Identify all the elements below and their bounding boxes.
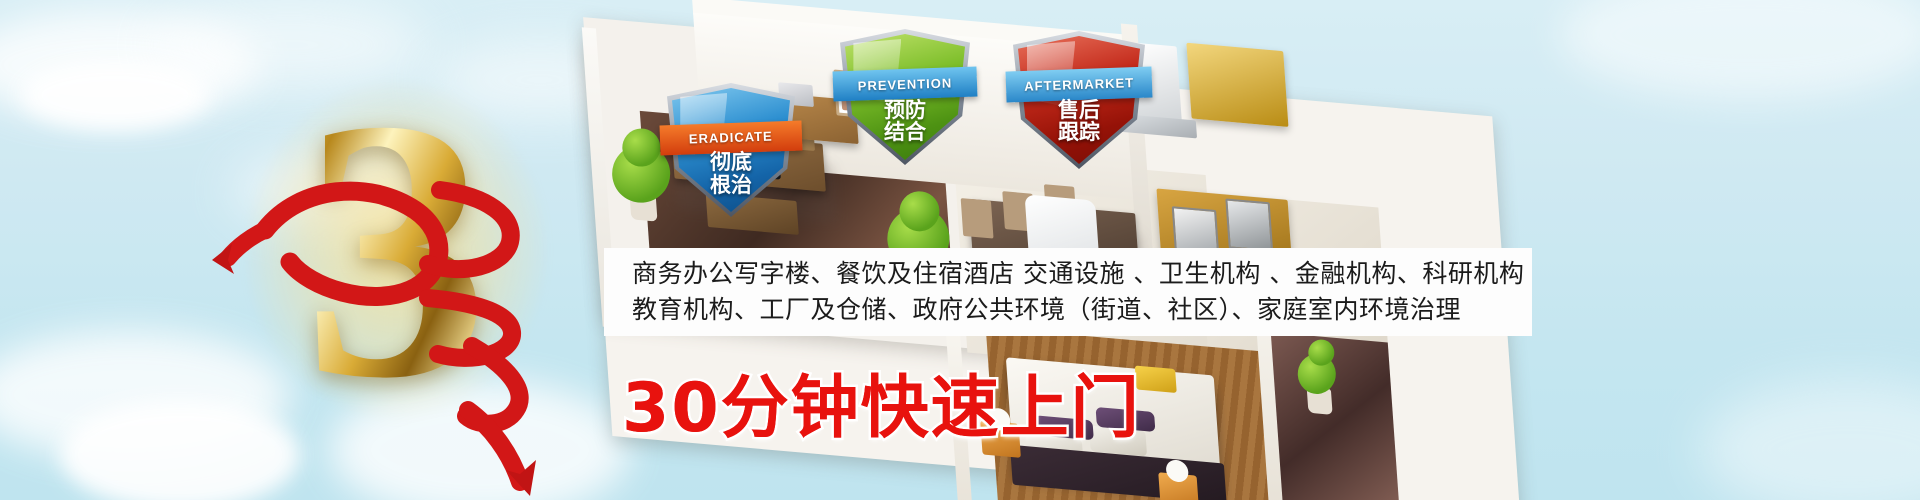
shield-chinese-line1: 预防 <box>884 99 926 122</box>
shield-chinese-line2: 跟踪 <box>1058 121 1100 144</box>
service-scope-panel: 商务办公写字楼、餐饮及住宿酒店 交通设施 、卫生机构 、金融机构、科研机构 教育… <box>604 248 1532 336</box>
service-scope-line-1: 商务办公写字楼、餐饮及住宿酒店 交通设施 、卫生机构 、金融机构、科研机构 <box>632 256 1504 292</box>
shield-badge-prevention[interactable]: PREVENTION 预防 结合 <box>845 34 965 160</box>
shield-ribbon-label: AFTERMARKET <box>1005 67 1152 103</box>
shield-badge-aftermarket[interactable]: AFTERMARKET 售后 跟踪 <box>1018 36 1140 164</box>
shield-ribbon-label: ERADICATE <box>660 120 803 155</box>
shield-chinese-line1: 售后 <box>1058 99 1100 122</box>
shield-badge-eradicate[interactable]: ERADICATE 彻底 根治 <box>672 88 790 212</box>
promo-banner: 3 ERADICATE 彻底 根治 PREVENTION 预防 结合 <box>0 0 1920 500</box>
shield-chinese-line1: 彻底 <box>710 151 752 174</box>
shield-ribbon-label: PREVENTION <box>833 67 978 102</box>
service-scope-line-2: 教育机构、工厂及仓储、政府公共环境（街道、社区）、家庭室内环境治理 <box>632 292 1504 328</box>
shield-chinese-label: 预防 结合 <box>845 100 965 144</box>
shield-chinese-label: 售后 跟踪 <box>1018 100 1140 144</box>
shield-chinese-line2: 根治 <box>710 174 752 197</box>
shield-chinese-label: 彻底 根治 <box>672 152 790 196</box>
headline-text: 30分钟快速上门 <box>622 352 1141 451</box>
shield-chinese-line2: 结合 <box>884 121 926 144</box>
red-ribbon <box>210 110 630 500</box>
